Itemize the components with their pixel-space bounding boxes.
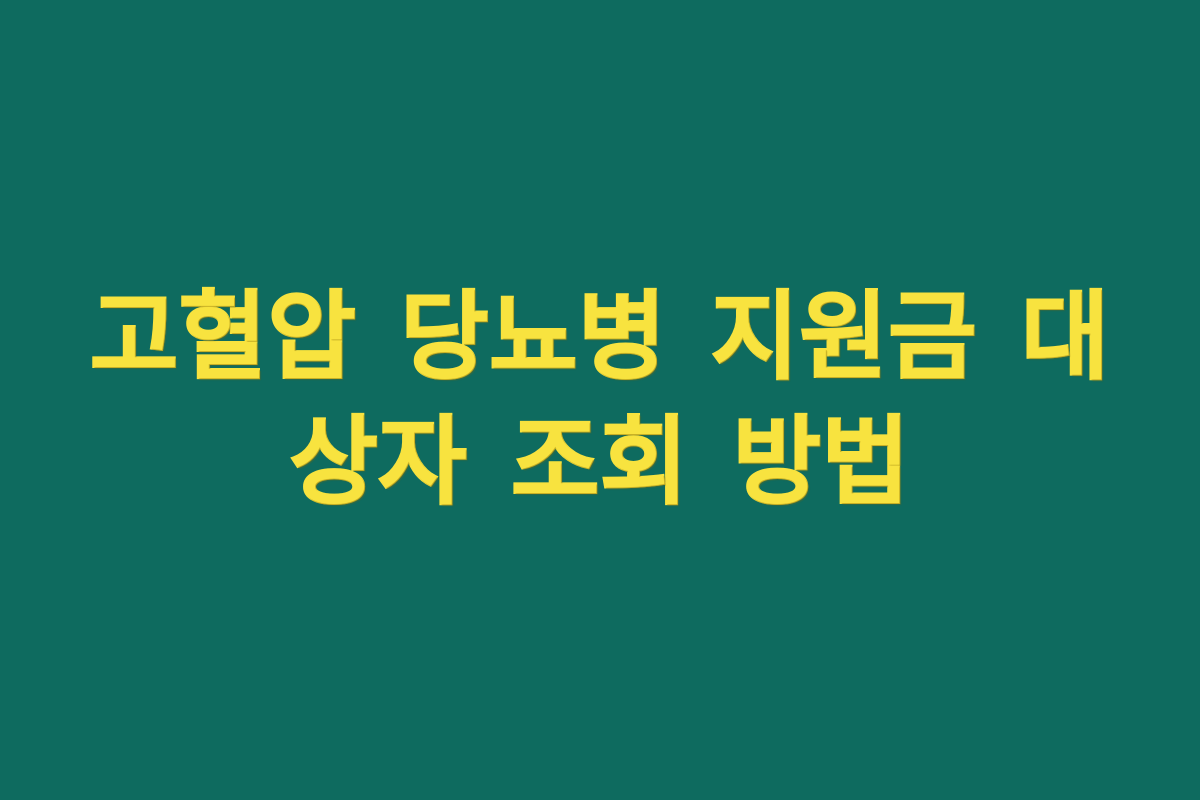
headline-container: 고혈압 당뇨병 지원금 대상자 조회 방법 [70,275,1130,525]
banner-canvas: 고혈압 당뇨병 지원금 대상자 조회 방법 [0,0,1200,800]
banner-headline: 고혈압 당뇨병 지원금 대상자 조회 방법 [90,275,1110,525]
